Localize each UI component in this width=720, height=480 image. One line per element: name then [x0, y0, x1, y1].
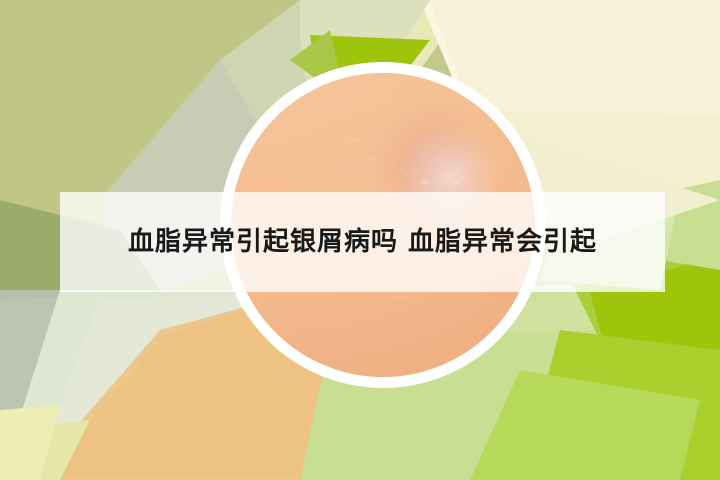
headline-band: 血脂异常引起银屑病吗 血脂异常会引起 [60, 192, 665, 292]
headline-text: 血脂异常引起银屑病吗 血脂异常会引起 [128, 229, 597, 255]
poster-image: 血脂异常引起银屑病吗 血脂异常会引起 [0, 0, 720, 480]
